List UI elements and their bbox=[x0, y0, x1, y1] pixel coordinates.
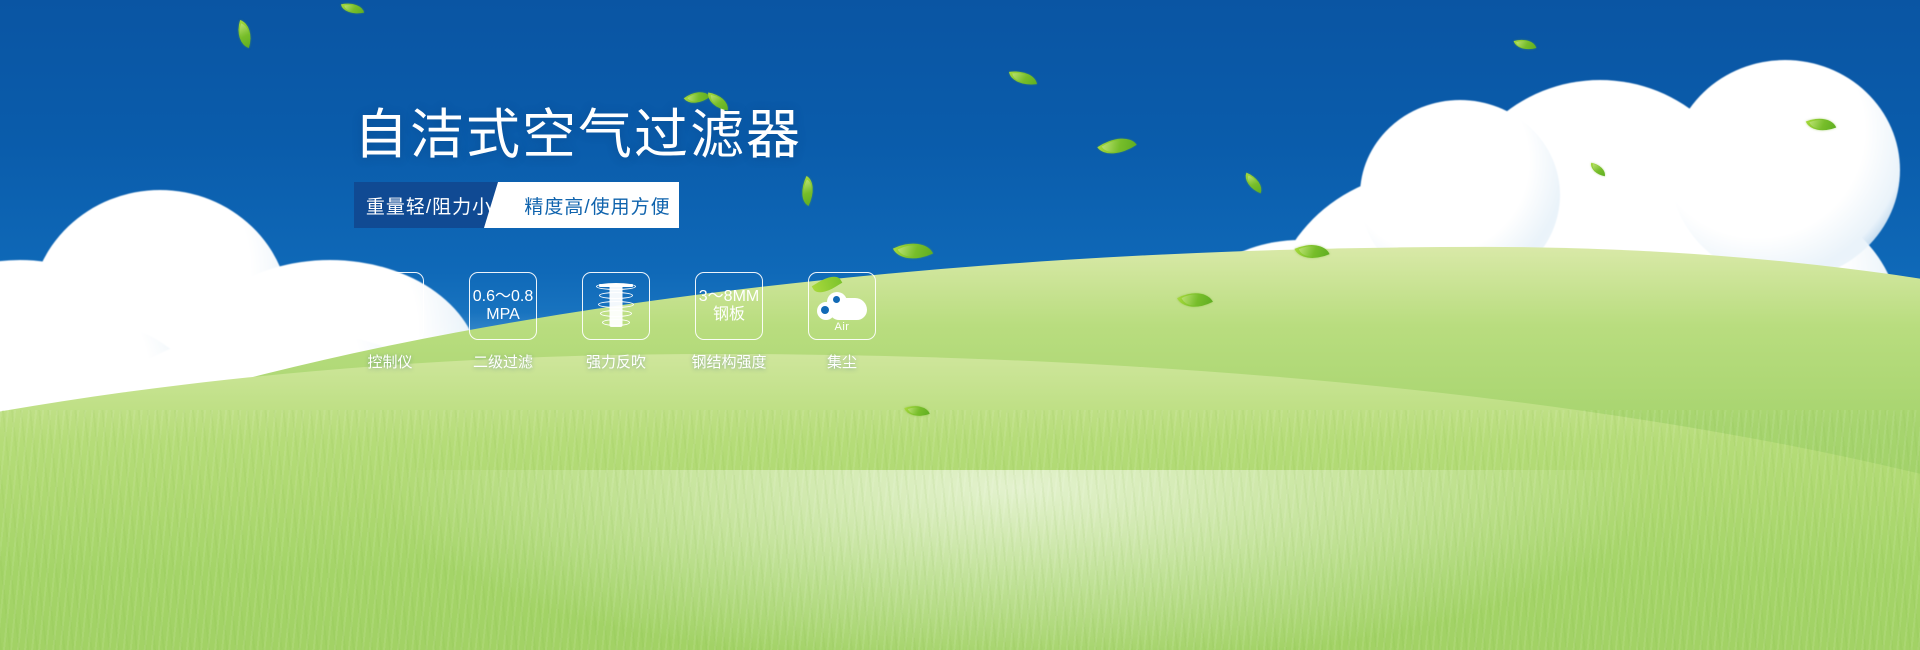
feature-item-pressure[interactable]: 0.6～0.8 MPA 二级过滤 bbox=[469, 272, 537, 372]
leaf-icon bbox=[1294, 237, 1329, 267]
pressure-text-icon: 0.6～0.8 MPA bbox=[473, 288, 534, 324]
feature-caption: 强力反吹 bbox=[586, 351, 646, 372]
grass-texture bbox=[0, 410, 1920, 650]
gauge-label-off: OFF bbox=[407, 318, 419, 324]
leaf-icon bbox=[1177, 284, 1213, 316]
leaf-icon bbox=[1589, 163, 1607, 177]
leaf-icon bbox=[1514, 35, 1537, 53]
tab-label: 重量轻/阻力小 bbox=[366, 192, 492, 219]
pressure-range: 0.6～0.8 bbox=[473, 288, 534, 306]
pressure-unit: MPA bbox=[473, 306, 534, 324]
feature-tabs: 重量轻/阻力小 精度高/使用方便 bbox=[354, 182, 679, 228]
disc-stack-icon bbox=[590, 281, 642, 331]
feature-item-blowback[interactable]: 强力反吹 bbox=[582, 272, 650, 372]
feature-item-controller[interactable]: NO OFF 控制仪 bbox=[356, 272, 424, 372]
steel-material: 钢板 bbox=[699, 306, 759, 324]
feature-item-steel[interactable]: 3～8MM 钢板 钢结构强度 bbox=[695, 272, 763, 372]
feature-caption: 集尘 bbox=[827, 351, 857, 372]
feature-caption: 控制仪 bbox=[367, 351, 412, 372]
gauge-needle bbox=[386, 290, 395, 323]
banner-hero: 自洁式空气过滤器 重量轻/阻力小 精度高/使用方便 bbox=[0, 0, 1920, 650]
grass-highlight bbox=[0, 470, 1920, 650]
leaf-icon bbox=[1806, 112, 1836, 138]
feature-icon-box: NO OFF bbox=[356, 272, 424, 340]
grass-hill-front bbox=[0, 354, 1920, 650]
feature-icon-box: Air bbox=[808, 272, 876, 340]
page-title: 自洁式空气过滤器 bbox=[354, 108, 1112, 162]
tab-label: 精度高/使用方便 bbox=[524, 192, 670, 219]
cloud-right-cumulus bbox=[1150, 40, 1920, 460]
gauge-label-no: NO bbox=[361, 307, 370, 313]
leaf-icon bbox=[341, 0, 364, 17]
cloud-horizon-puff bbox=[820, 390, 1240, 530]
steel-plate-text-icon: 3～8MM 钢板 bbox=[699, 288, 759, 324]
feature-icon-box: 0.6～0.8 MPA bbox=[469, 272, 537, 340]
gauge-switch-icon: NO OFF bbox=[361, 280, 419, 332]
tab-precision-convenience[interactable]: 精度高/使用方便 bbox=[504, 182, 679, 228]
feature-item-dust[interactable]: Air 集尘 bbox=[808, 272, 876, 372]
cloud-far-right bbox=[1420, 330, 1920, 510]
air-label: Air bbox=[815, 321, 869, 333]
leaf-icon bbox=[1241, 173, 1266, 194]
feature-icon-box: 3～8MM 钢板 bbox=[695, 272, 763, 340]
feature-icon-box bbox=[582, 272, 650, 340]
feature-caption: 二级过滤 bbox=[473, 351, 533, 372]
air-cloud-icon: Air bbox=[815, 282, 869, 330]
feature-list: NO OFF 控制仪 0.6～0.8 MPA 二级过滤 bbox=[356, 272, 1112, 372]
leaf-icon bbox=[904, 401, 929, 422]
leaf-icon bbox=[1009, 68, 1037, 87]
steel-thickness: 3～8MM bbox=[699, 288, 759, 306]
leaf-icon bbox=[233, 20, 257, 48]
feature-caption: 钢结构强度 bbox=[692, 351, 767, 372]
banner-content: 自洁式空气过滤器 重量轻/阻力小 精度高/使用方便 bbox=[352, 108, 1112, 372]
